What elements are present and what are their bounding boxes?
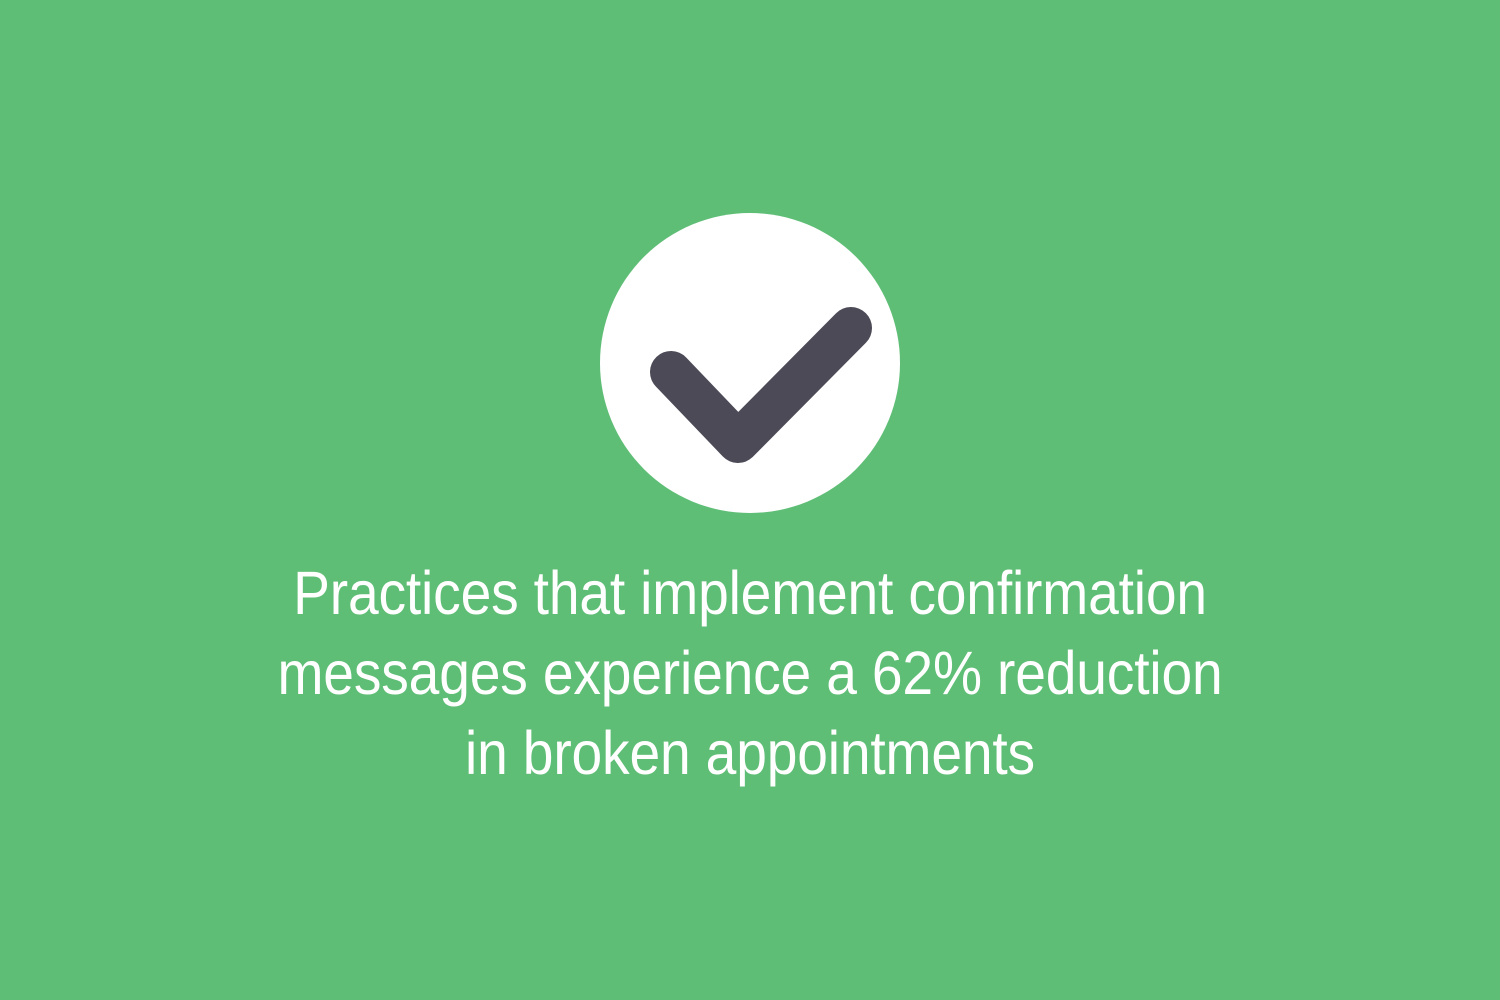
checkmark-stroke [671,328,851,442]
checkmark-icon [600,213,900,513]
caption-text: Practices that implement confirmation me… [0,553,1500,793]
caption-line-3: in broken appointments [71,713,1429,793]
icon-badge-container [0,213,1500,513]
caption-line-2: messages experience a 62% reduction [71,633,1429,713]
checkmark-badge-circle [600,213,900,513]
caption-line-1: Practices that implement confirmation [71,553,1429,633]
statistic-card: Practices that implement confirmation me… [0,0,1500,1000]
